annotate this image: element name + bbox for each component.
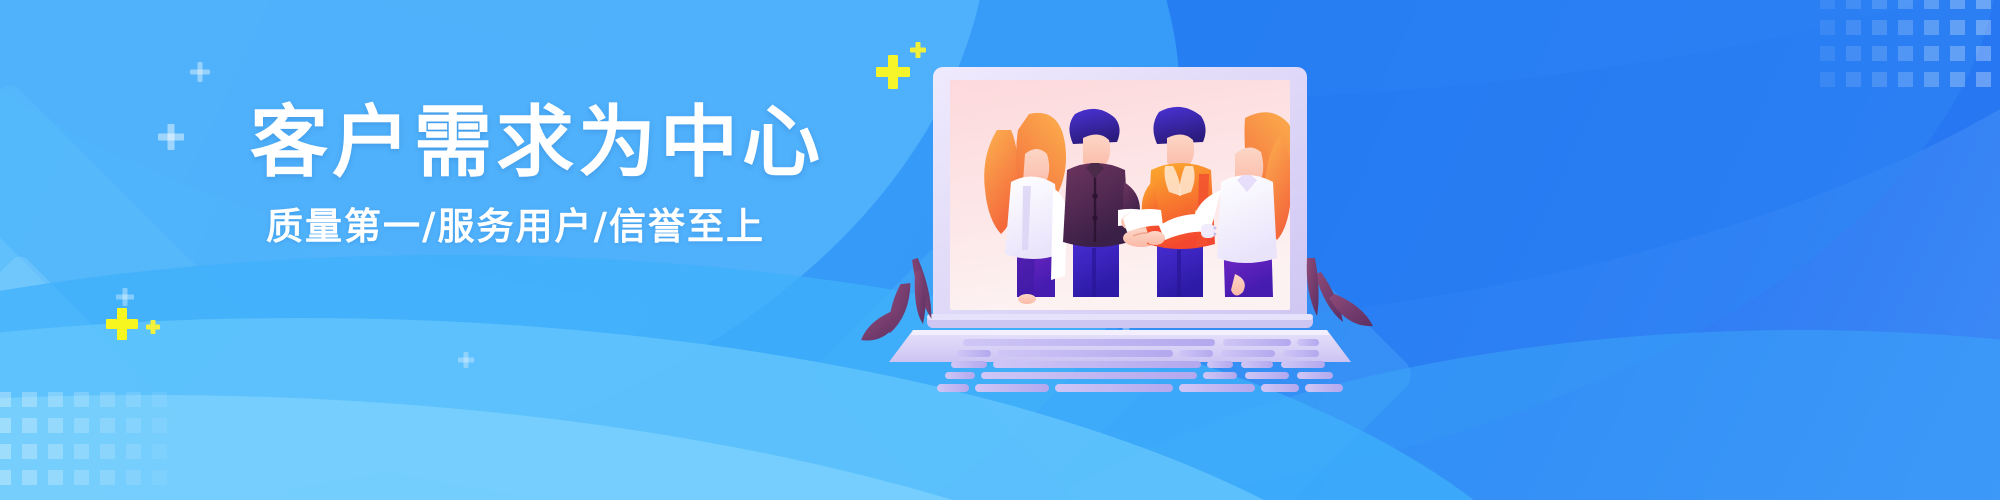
grid-square — [0, 444, 11, 459]
grid-square — [1950, 20, 1965, 35]
laptop-hinge — [927, 314, 1313, 328]
grid-square — [22, 418, 37, 433]
plus-white-upper — [190, 62, 210, 82]
grid-square — [1846, 20, 1861, 35]
grid-square — [74, 392, 89, 407]
grid-square — [1898, 46, 1913, 61]
grid-square — [1846, 0, 1861, 9]
grid-square — [152, 418, 167, 433]
leaf-sprig-left — [861, 258, 939, 341]
grid-square — [1924, 72, 1939, 87]
grid-square — [152, 392, 167, 407]
plus-yellow-small — [910, 42, 926, 58]
leaf-sprig-right — [1307, 258, 1373, 326]
grid-square — [100, 392, 115, 407]
grid-square — [74, 444, 89, 459]
laptop-keyboard — [889, 330, 1351, 392]
plus-yellow-bottom-small — [146, 320, 160, 334]
grid-square — [22, 444, 37, 459]
grid-square — [0, 392, 11, 407]
page-title: 客户需求为中心 — [250, 104, 870, 182]
grid-square — [1820, 72, 1835, 87]
grid-square — [1846, 72, 1861, 87]
grid-square — [1872, 72, 1887, 87]
grid-square — [152, 470, 167, 485]
background-wave-light-b — [0, 0, 990, 500]
plus-yellow-bottom-large — [106, 308, 138, 340]
grid-square — [126, 392, 141, 407]
grid-square — [100, 444, 115, 459]
page-subtitle: 质量第一/服务用户/信誉至上 — [266, 208, 870, 245]
grid-square — [1924, 0, 1939, 9]
background-chevron-1 — [0, 80, 250, 500]
grid-square — [1898, 0, 1913, 9]
grid-square — [152, 444, 167, 459]
grid-square — [1950, 0, 1965, 9]
grid-square — [1872, 20, 1887, 35]
grid-square — [1976, 0, 1991, 9]
grid-square — [74, 418, 89, 433]
grid-square — [126, 418, 141, 433]
grid-square — [1976, 20, 1991, 35]
grid-square — [1846, 46, 1861, 61]
grid-square — [1872, 46, 1887, 61]
grid-square — [22, 470, 37, 485]
grid-square — [48, 418, 63, 433]
plus-white-mid — [158, 124, 184, 150]
marketing-banner: 客户需求为中心 质量第一/服务用户/信誉至上 — [0, 0, 2000, 500]
grid-square — [1924, 20, 1939, 35]
grid-square — [1924, 46, 1939, 61]
grid-square — [1820, 0, 1835, 9]
grid-square — [126, 470, 141, 485]
grid-square — [1898, 72, 1913, 87]
grid-square — [1976, 46, 1991, 61]
grid-square — [1950, 46, 1965, 61]
grid-square — [100, 470, 115, 485]
grid-square — [1820, 46, 1835, 61]
grid-square — [48, 470, 63, 485]
grid-square — [48, 392, 63, 407]
grid-square — [1950, 72, 1965, 87]
background-wave-bottom-c — [0, 395, 1400, 500]
grid-square — [100, 418, 115, 433]
grid-square — [0, 470, 11, 485]
grid-square — [126, 444, 141, 459]
grid-square — [1898, 20, 1913, 35]
grid-square — [48, 444, 63, 459]
grid-square — [1976, 72, 1991, 87]
grid-square — [0, 418, 11, 433]
plus-white-near-text — [458, 352, 474, 368]
grid-square — [1820, 20, 1835, 35]
grid-square — [22, 392, 37, 407]
background-chevron-3 — [0, 252, 183, 500]
laptop-teamwork-illustration — [905, 62, 1605, 362]
grid-square — [74, 470, 89, 485]
plus-white-bottom — [116, 288, 134, 306]
grid-square — [1872, 0, 1887, 9]
headline-block: 客户需求为中心 质量第一/服务用户/信誉至上 — [250, 104, 870, 245]
